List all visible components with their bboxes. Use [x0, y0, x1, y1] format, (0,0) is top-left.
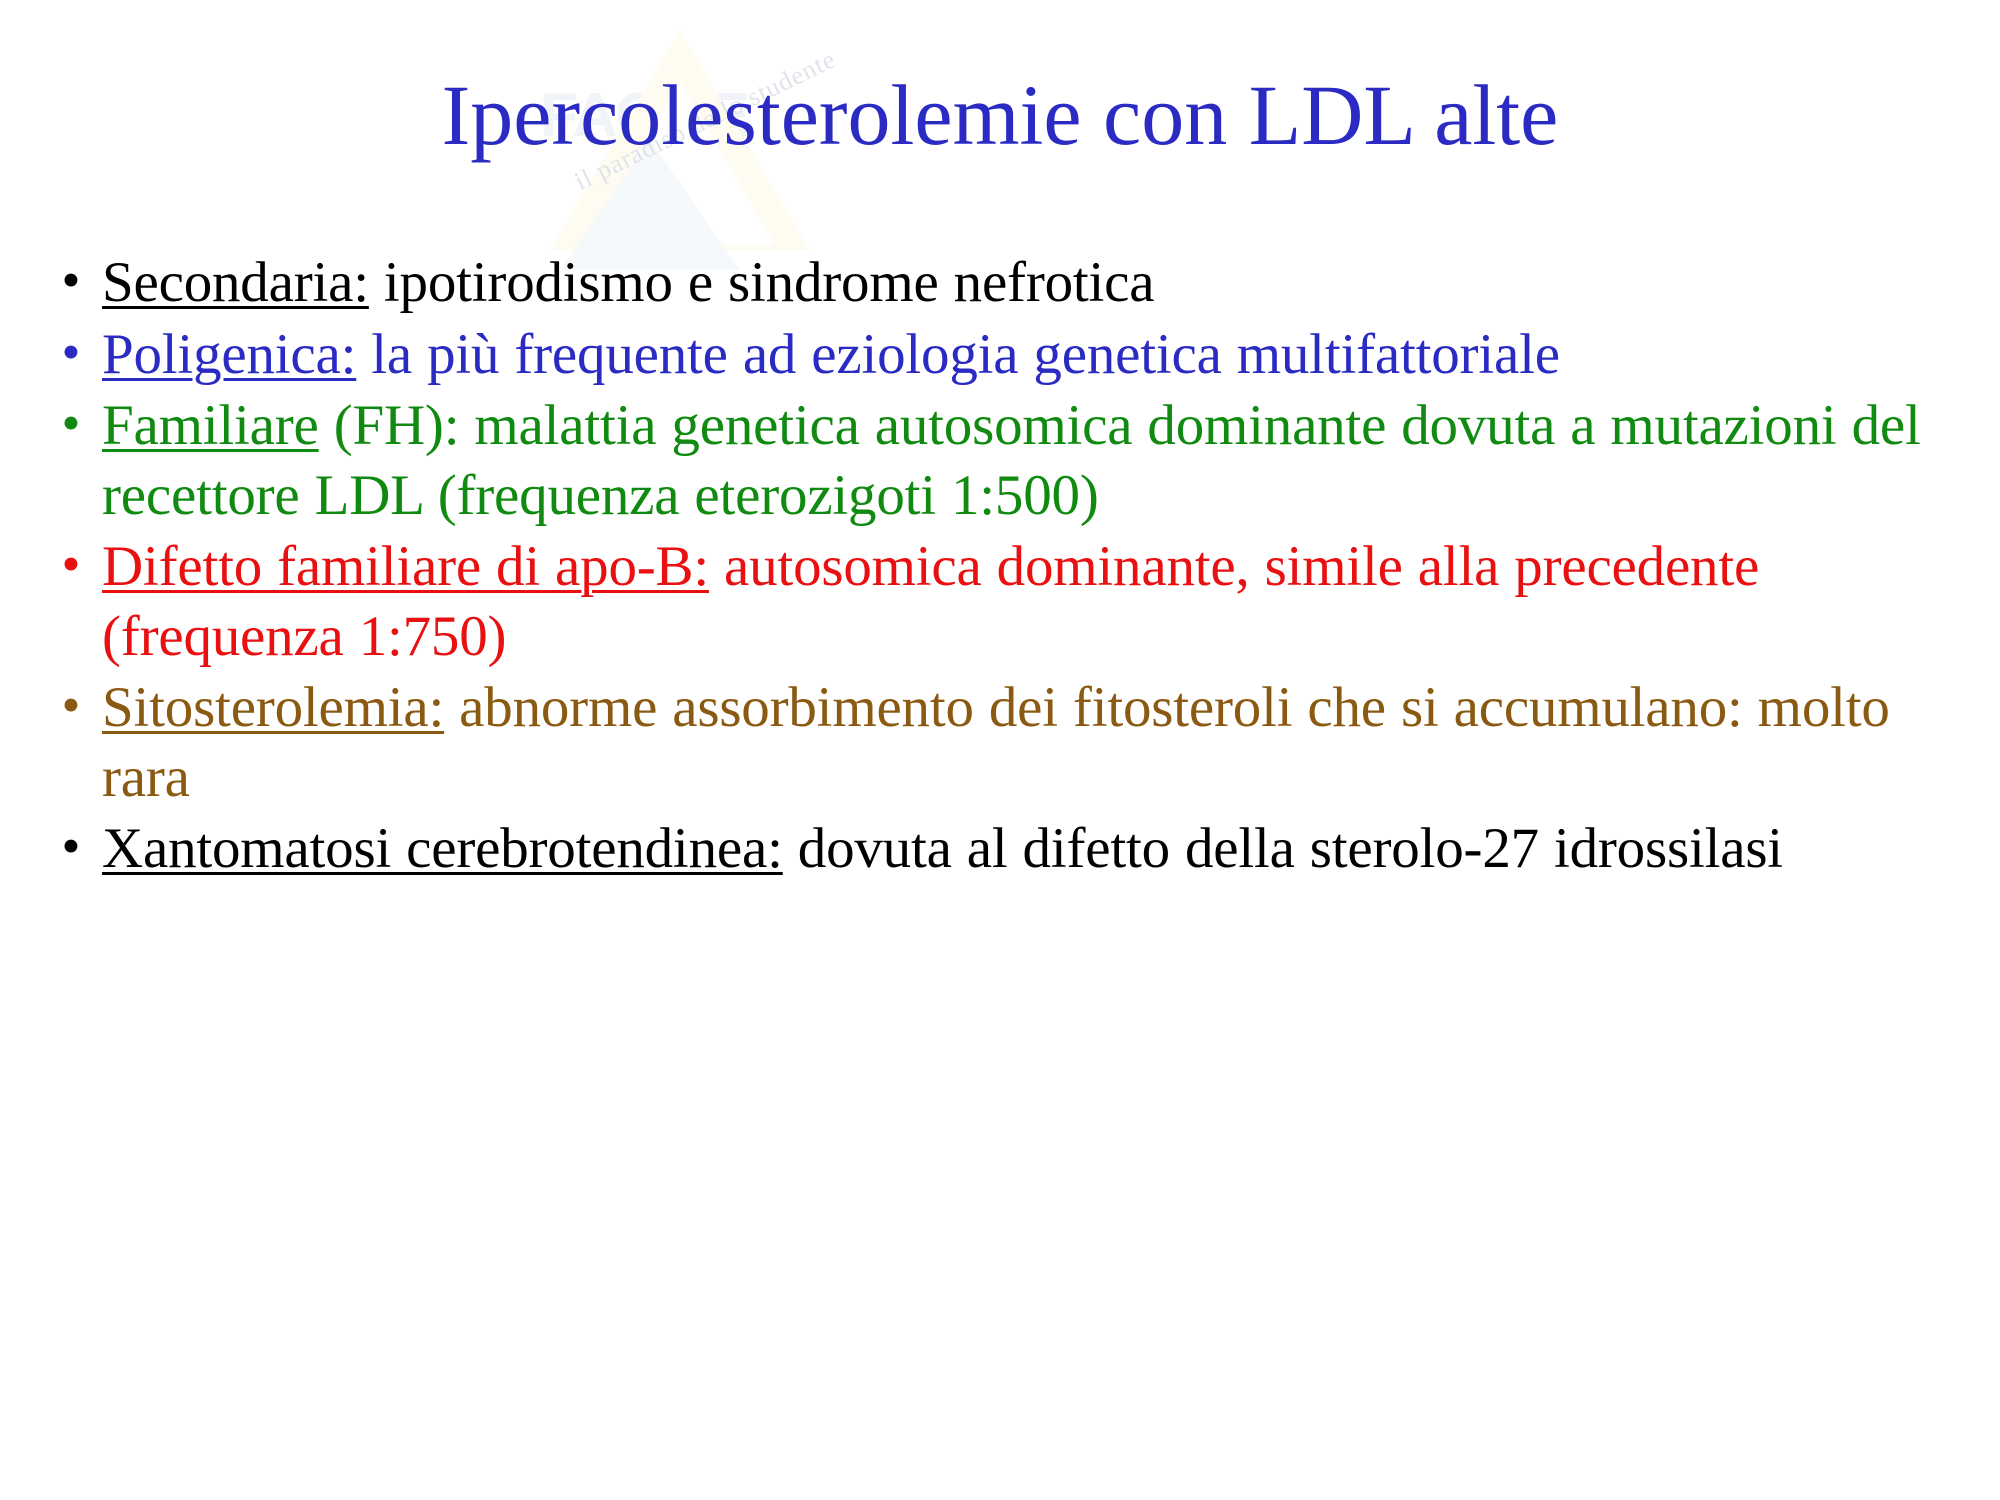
bullet-lead-term: Poligenica:	[102, 323, 356, 386]
list-item: • Xantomatosi cerebrotendinea: dovuta al…	[40, 814, 1970, 884]
slide-title-text: Ipercolesterolemie con LDL alte	[442, 67, 1559, 163]
slide-title: Ipercolesterolemie con LDL alte	[0, 72, 2000, 158]
bullet-body-text: dovuta al difetto della sterolo-27 idros…	[783, 817, 1783, 880]
bullet-lead-term: Sitosterolemia:	[102, 676, 444, 739]
list-item: • Difetto familiare di apo-B: autosomica…	[40, 532, 1970, 671]
bullet-lead-term: Xantomatosi cerebrotendinea:	[102, 817, 783, 880]
bullet-marker-icon: •	[40, 532, 102, 598]
bullet-text: Difetto familiare di apo-B: autosomica d…	[102, 532, 1970, 671]
bullet-marker-icon: •	[40, 814, 102, 880]
list-item: • Sitosterolemia: abnorme assorbimento d…	[40, 673, 1970, 812]
bullet-lead-term: Familiare	[102, 394, 319, 457]
list-item: • Secondaria: ipotirodismo e sindrome ne…	[40, 248, 1970, 318]
bullet-body-text: ipotirodismo e sindrome nefrotica	[369, 251, 1155, 314]
presentation-slide: FACILE il paradiso dello studente Iperco…	[0, 0, 2000, 1500]
bullet-marker-icon: •	[40, 320, 102, 386]
bullet-text: Familiare (FH): malattia genetica autoso…	[102, 391, 1970, 530]
bullet-marker-icon: •	[40, 391, 102, 457]
bullet-lead-term: Secondaria:	[102, 251, 369, 314]
bullet-text: Poligenica: la più frequente ad eziologi…	[102, 320, 1970, 390]
bullet-marker-icon: •	[40, 248, 102, 314]
list-item: • Familiare (FH): malattia genetica auto…	[40, 391, 1970, 530]
bullet-text: Secondaria: ipotirodismo e sindrome nefr…	[102, 248, 1970, 318]
bullet-text: Sitosterolemia: abnorme assorbimento dei…	[102, 673, 1970, 812]
bullet-list: • Secondaria: ipotirodismo e sindrome ne…	[40, 248, 1970, 886]
bullet-marker-icon: •	[40, 673, 102, 739]
list-item: • Poligenica: la più frequente ad eziolo…	[40, 320, 1970, 390]
bullet-body-text: (FH): malattia genetica autosomica domin…	[102, 394, 1921, 527]
bullet-body-text: la più frequente ad eziologia genetica m…	[356, 323, 1560, 386]
bullet-text: Xantomatosi cerebrotendinea: dovuta al d…	[102, 814, 1970, 884]
bullet-lead-term: Difetto familiare di apo-B:	[102, 535, 709, 598]
